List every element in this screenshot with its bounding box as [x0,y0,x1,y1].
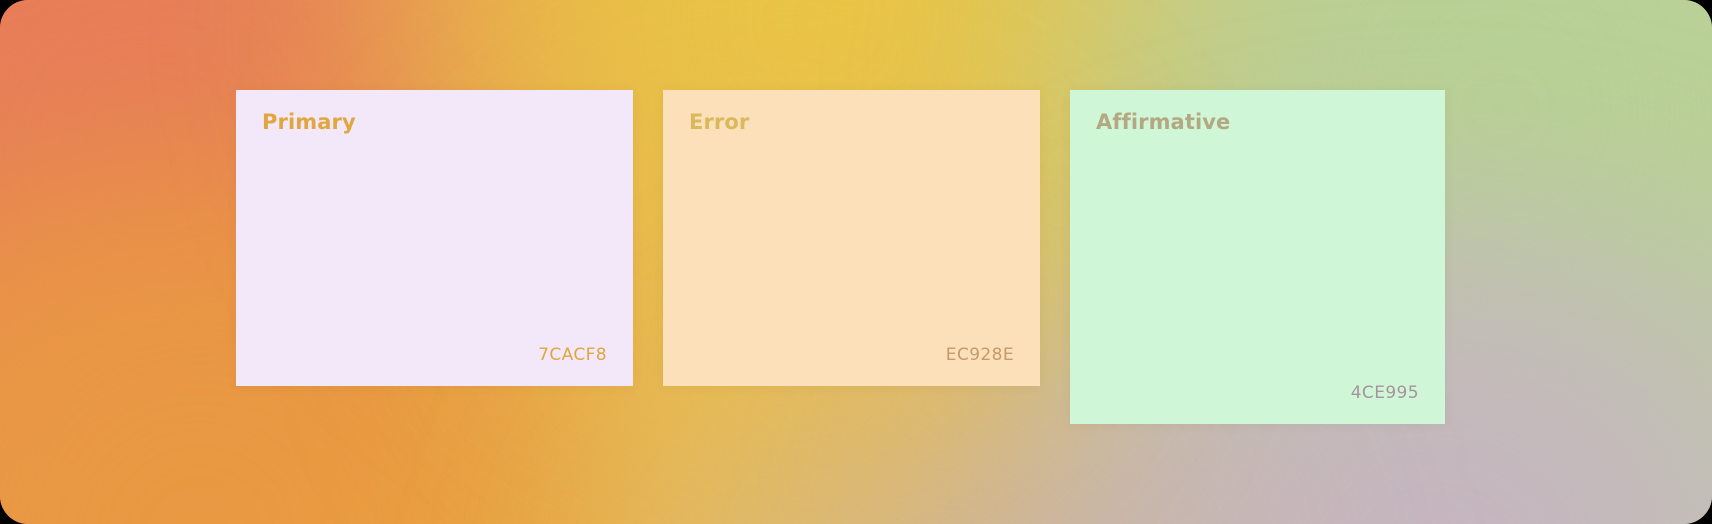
swatch-card-affirmative[interactable]: Affirmative 4CE995 [1070,90,1445,424]
swatch-card-error[interactable]: Error EC928E [663,90,1040,386]
swatch-hex-error: EC928E [689,347,1014,364]
color-palette-canvas: Primary 7CACF8 Error EC928E Affirmative … [0,0,1712,524]
swatch-row: Primary 7CACF8 Error EC928E Affirmative … [0,0,1712,524]
swatch-hex-affirmative: 4CE995 [1096,385,1419,402]
swatch-label-error: Error [689,112,1014,133]
swatch-hex-primary: 7CACF8 [262,347,607,364]
swatch-label-primary: Primary [262,112,607,133]
swatch-label-affirmative: Affirmative [1096,112,1419,133]
swatch-card-primary[interactable]: Primary 7CACF8 [236,90,633,386]
